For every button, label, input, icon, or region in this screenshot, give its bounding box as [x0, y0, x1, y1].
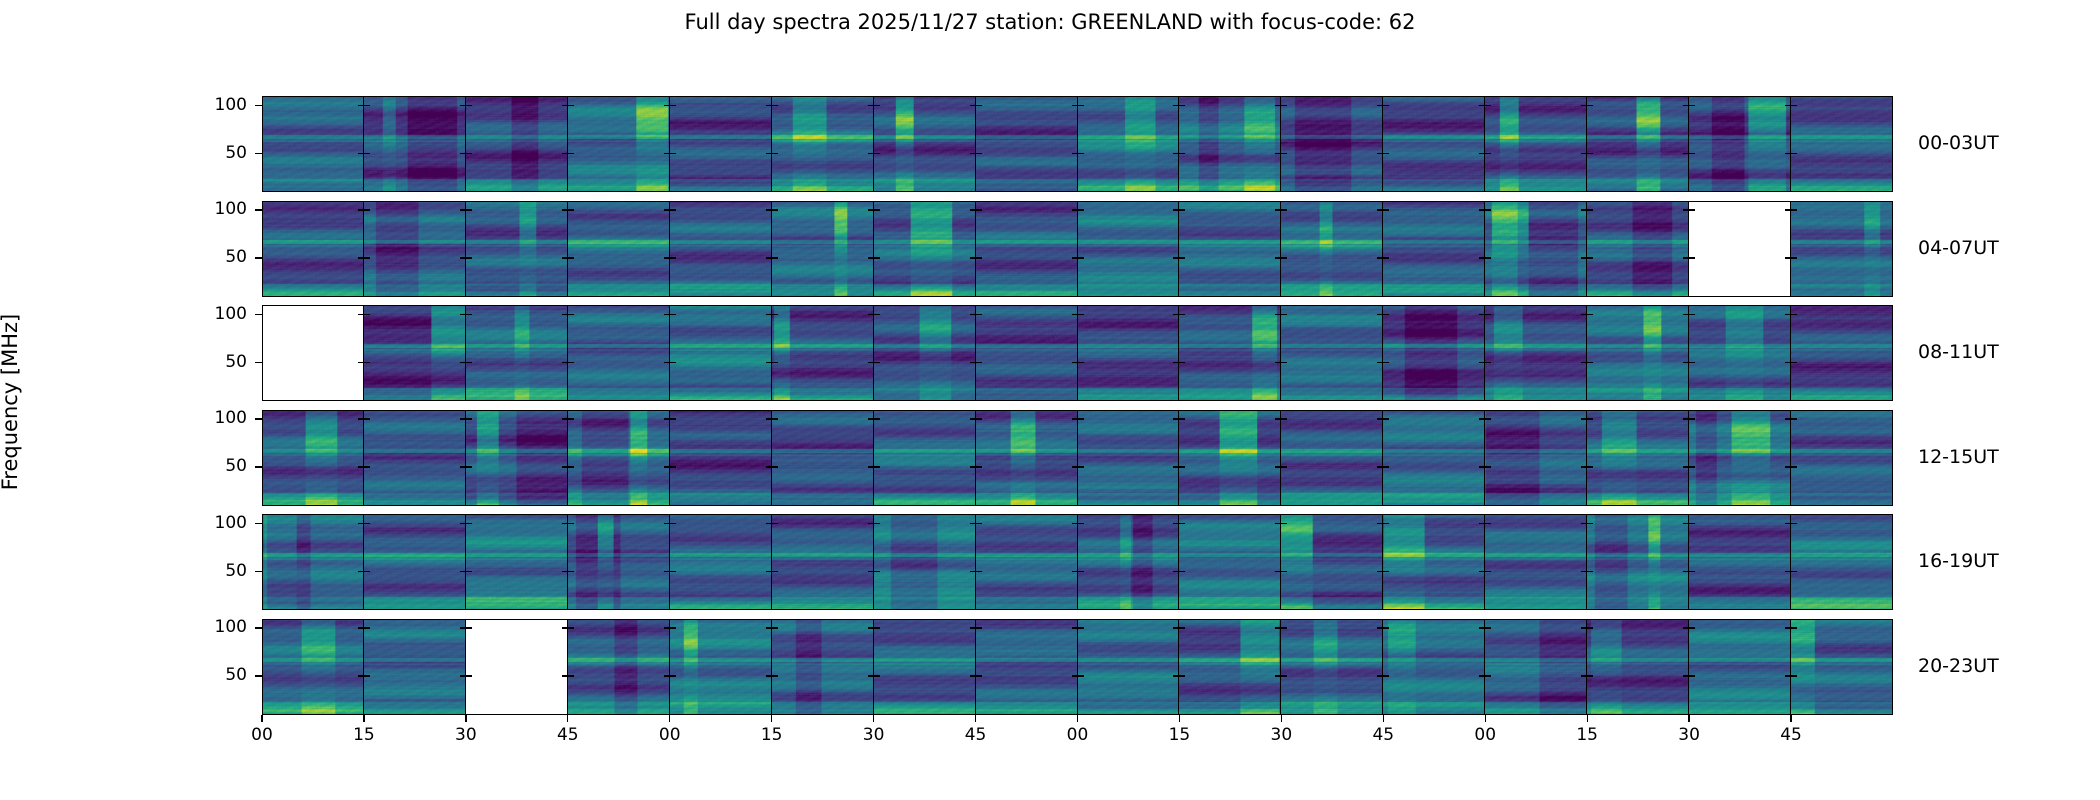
spectrogram-row-16-19ut — [262, 514, 1893, 610]
y-tick-mark-inner — [1383, 362, 1389, 363]
spectrogram-panel — [976, 201, 1078, 297]
spectrogram-panel — [1078, 619, 1180, 715]
y-tick-mark-inner — [1485, 675, 1491, 676]
spectrogram-panel — [568, 514, 670, 610]
y-tick-mark-inner — [670, 418, 676, 419]
spectrogram-panel — [262, 619, 364, 715]
spectrogram-panel — [1485, 305, 1587, 401]
spectrogram-panel — [1791, 305, 1893, 401]
row-label-20-23ut: 20-23UT — [1918, 655, 1999, 677]
y-tick-mark-inner — [1078, 105, 1084, 106]
y-tick-mark-inner — [568, 257, 574, 258]
y-tick-mark-inner — [1383, 314, 1389, 315]
y-tick-mark-inner — [1587, 257, 1593, 258]
x-tick-mark — [261, 715, 262, 722]
y-tick-mark-inner — [1383, 571, 1389, 572]
spectrogram-panel — [976, 305, 1078, 401]
y-tick-mark-inner — [466, 362, 472, 363]
spectrogram-panel — [772, 305, 874, 401]
spectrogram-panel — [1281, 201, 1383, 297]
x-tick-mark — [1790, 715, 1791, 722]
y-tick-label: 100 — [192, 199, 247, 219]
y-tick-mark-inner — [364, 153, 370, 154]
y-tick-mark-inner — [568, 627, 574, 628]
x-tick-label: 30 — [844, 725, 904, 745]
spectrogram-panel — [568, 96, 670, 192]
y-tick-mark-inner — [1485, 362, 1491, 363]
x-tick-mark — [873, 715, 874, 722]
y-tick-mark-inner — [1078, 466, 1084, 467]
y-tick-mark-inner — [772, 153, 778, 154]
spectrogram-panel — [874, 96, 976, 192]
y-tick-mark-inner — [1179, 209, 1185, 210]
y-tick-mark-inner — [1078, 257, 1084, 258]
y-tick-mark-inner — [976, 362, 982, 363]
row-label-04-07ut: 04-07UT — [1918, 237, 1999, 259]
y-tick-mark-inner — [976, 314, 982, 315]
y-tick-mark-inner — [568, 362, 574, 363]
page-title: Full day spectra 2025/11/27 station: GRE… — [0, 10, 2100, 34]
row-label-16-19ut: 16-19UT — [1918, 550, 1999, 572]
y-tick-mark-inner — [1485, 523, 1491, 524]
spectrogram-panel — [364, 201, 466, 297]
y-tick-mark-inner — [670, 362, 676, 363]
y-tick-mark — [255, 418, 262, 419]
spectrogram-panel — [1587, 96, 1689, 192]
y-tick-mark-inner — [1078, 362, 1084, 363]
spectrogram-panel — [1179, 96, 1281, 192]
x-tick-mark — [1485, 715, 1486, 722]
y-tick-mark-inner — [1179, 314, 1185, 315]
spectrogram-panel — [568, 619, 670, 715]
y-tick-mark-inner — [364, 257, 370, 258]
y-tick-mark-inner — [1179, 466, 1185, 467]
y-tick-mark — [255, 675, 262, 676]
y-tick-label: 50 — [192, 456, 247, 476]
y-tick-mark-inner — [976, 466, 982, 467]
spectrogram-panel — [1383, 201, 1485, 297]
x-tick-mark — [465, 715, 466, 722]
y-tick-mark-inner — [976, 418, 982, 419]
y-tick-mark-inner — [976, 571, 982, 572]
y-tick-mark-inner — [874, 362, 880, 363]
spectrogram-panel — [262, 514, 364, 610]
x-tick-label: 00 — [1048, 725, 1108, 745]
y-tick-mark-inner — [1485, 314, 1491, 315]
spectrogram-panel — [976, 619, 1078, 715]
spectrogram-panel — [1791, 619, 1893, 715]
spectrogram-panel — [772, 514, 874, 610]
y-tick-mark-inner — [364, 523, 370, 524]
y-tick-mark-inner — [1587, 153, 1593, 154]
spectrogram-panel — [1791, 514, 1893, 610]
y-tick-mark-inner — [670, 257, 676, 258]
y-tick-mark-inner — [1281, 257, 1287, 258]
spectrogram-panel — [568, 201, 670, 297]
spectrogram-panel — [1179, 201, 1281, 297]
y-tick-mark-inner — [874, 418, 880, 419]
row-label-08-11ut: 08-11UT — [1918, 341, 1999, 363]
y-tick-mark-inner — [874, 675, 880, 676]
y-tick-mark-inner — [1485, 105, 1491, 106]
y-tick-mark-inner — [670, 209, 676, 210]
x-tick-mark — [1077, 715, 1078, 722]
spectrogram-panel — [1179, 514, 1281, 610]
y-tick-mark-inner — [364, 314, 370, 315]
spectrogram-panel — [1485, 96, 1587, 192]
y-tick-mark-inner — [1791, 362, 1797, 363]
y-axis-label-text: Frequency [MHz] — [0, 242, 22, 562]
spectrogram-panel — [1078, 96, 1180, 192]
y-tick-mark-inner — [1485, 466, 1491, 467]
x-tick-mark — [1688, 715, 1689, 722]
spectrogram-panel — [874, 619, 976, 715]
spectrogram-row-00-03ut — [262, 96, 1893, 192]
y-tick-mark-inner — [466, 523, 472, 524]
y-tick-mark-inner — [1791, 153, 1797, 154]
y-tick-label: 50 — [192, 352, 247, 372]
y-tick-mark-inner — [1383, 627, 1389, 628]
spectrogram-panel — [1689, 619, 1791, 715]
x-tick-mark — [669, 715, 670, 722]
spectrogram-panel — [568, 410, 670, 506]
y-tick-mark-inner — [1689, 362, 1695, 363]
spectrogram-panel — [874, 514, 976, 610]
y-tick-mark-inner — [1485, 209, 1491, 210]
y-tick-mark-inner — [976, 257, 982, 258]
y-tick-mark-inner — [1281, 153, 1287, 154]
y-tick-mark-inner — [976, 105, 982, 106]
y-tick-mark-inner — [1383, 418, 1389, 419]
y-tick-label: 100 — [192, 617, 247, 637]
spectrogram-panel — [1383, 305, 1485, 401]
y-tick-mark-inner — [1078, 523, 1084, 524]
y-tick-mark-inner — [466, 257, 472, 258]
y-tick-mark-inner — [1791, 571, 1797, 572]
x-tick-mark — [1281, 715, 1282, 722]
spectrogram-panel — [1281, 305, 1383, 401]
y-tick-mark-inner — [772, 466, 778, 467]
spectrogram-panel — [670, 96, 772, 192]
y-tick-label: 50 — [192, 143, 247, 163]
spectrogram-panel — [670, 410, 772, 506]
spectrogram-panel — [364, 514, 466, 610]
spectrogram-panel — [1281, 96, 1383, 192]
spectrogram-panel — [1587, 619, 1689, 715]
y-tick-mark-inner — [1689, 105, 1695, 106]
x-tick-label: 45 — [538, 725, 598, 745]
spectrogram-panel — [364, 96, 466, 192]
y-tick-mark-inner — [466, 627, 472, 628]
y-tick-label: 100 — [192, 408, 247, 428]
y-tick-mark-inner — [1587, 571, 1593, 572]
y-tick-mark-inner — [1791, 209, 1797, 210]
y-tick-mark-inner — [1485, 627, 1491, 628]
y-tick-mark — [255, 257, 262, 258]
y-tick-mark-inner — [1179, 105, 1185, 106]
y-tick-mark — [255, 571, 262, 572]
spectrogram-panel — [1281, 410, 1383, 506]
x-tick-label: 00 — [640, 725, 700, 745]
y-tick-mark — [255, 362, 262, 363]
y-tick-mark-inner — [568, 523, 574, 524]
x-tick-label: 15 — [742, 725, 802, 745]
y-tick-mark-inner — [1383, 153, 1389, 154]
y-tick-mark — [255, 523, 262, 524]
y-tick-mark-inner — [1587, 466, 1593, 467]
spectrogram-row-12-15ut — [262, 410, 1893, 506]
spectrogram-panel — [874, 305, 976, 401]
y-tick-mark-inner — [1179, 418, 1185, 419]
y-tick-label: 50 — [192, 665, 247, 685]
y-tick-mark — [255, 627, 262, 628]
y-tick-mark-inner — [772, 627, 778, 628]
y-tick-mark-inner — [1485, 257, 1491, 258]
spectrogram-panel — [670, 201, 772, 297]
y-tick-mark-inner — [1689, 257, 1695, 258]
y-tick-mark-inner — [1179, 362, 1185, 363]
x-tick-label: 45 — [946, 725, 1006, 745]
spectrogram-panel-missing — [262, 305, 364, 401]
spectrogram-panel — [1078, 305, 1180, 401]
x-tick-label: 45 — [1761, 725, 1821, 745]
spectrogram-row-04-07ut — [262, 201, 1893, 297]
y-tick-label: 100 — [192, 304, 247, 324]
spectrogram-panel — [976, 96, 1078, 192]
y-tick-mark-inner — [1281, 105, 1287, 106]
spectrogram-panel — [1485, 619, 1587, 715]
row-label-12-15ut: 12-15UT — [1918, 446, 1999, 468]
spectrogram-panel — [670, 305, 772, 401]
y-tick-mark-inner — [364, 466, 370, 467]
x-tick-mark — [363, 715, 364, 722]
y-tick-mark-inner — [772, 418, 778, 419]
y-tick-mark-inner — [466, 466, 472, 467]
spectrogram-panel — [466, 410, 568, 506]
spectrogram-panel — [1689, 410, 1791, 506]
spectrogram-panel — [1485, 410, 1587, 506]
y-tick-mark-inner — [1689, 209, 1695, 210]
spectrogram-panel — [1179, 619, 1281, 715]
y-axis-label: Frequency [MHz] — [0, 0, 1, 1]
y-tick-mark-inner — [670, 153, 676, 154]
y-tick-mark-inner — [1791, 523, 1797, 524]
y-tick-label: 100 — [192, 513, 247, 533]
y-tick-mark-inner — [1078, 153, 1084, 154]
x-tick-mark — [1383, 715, 1384, 722]
y-tick-mark-inner — [364, 209, 370, 210]
y-tick-mark-inner — [466, 675, 472, 676]
spectrogram-panel — [1791, 201, 1893, 297]
spectrogram-panel — [1587, 514, 1689, 610]
y-tick-mark-inner — [772, 314, 778, 315]
spectrogram-panel — [262, 201, 364, 297]
y-tick-mark-inner — [364, 627, 370, 628]
x-tick-label: 30 — [1659, 725, 1719, 745]
y-tick-mark-inner — [1485, 418, 1491, 419]
y-tick-mark-inner — [976, 153, 982, 154]
y-tick-mark-inner — [1587, 314, 1593, 315]
spectrogram-panel — [1078, 201, 1180, 297]
spectrogram-panel — [772, 201, 874, 297]
spectrogram-panel — [1689, 514, 1791, 610]
y-tick-mark-inner — [1587, 105, 1593, 106]
y-tick-mark — [255, 105, 262, 106]
x-tick-label: 15 — [334, 725, 394, 745]
y-tick-mark — [255, 153, 262, 154]
y-tick-mark-inner — [466, 209, 472, 210]
y-tick-mark-inner — [670, 571, 676, 572]
y-tick-mark-inner — [1281, 675, 1287, 676]
y-tick-mark-inner — [1587, 523, 1593, 524]
spectrogram-panel — [262, 96, 364, 192]
x-tick-mark — [771, 715, 772, 722]
x-tick-mark — [975, 715, 976, 722]
y-tick-mark-inner — [466, 314, 472, 315]
y-tick-mark-inner — [670, 523, 676, 524]
y-tick-mark-inner — [1791, 257, 1797, 258]
y-tick-mark-inner — [772, 105, 778, 106]
y-tick-mark-inner — [1179, 571, 1185, 572]
y-tick-mark-inner — [670, 466, 676, 467]
y-tick-mark-inner — [1791, 105, 1797, 106]
y-tick-mark-inner — [1791, 314, 1797, 315]
y-tick-mark-inner — [1587, 362, 1593, 363]
y-tick-mark-inner — [1383, 466, 1389, 467]
y-tick-mark-inner — [1078, 675, 1084, 676]
y-tick-mark-inner — [874, 523, 880, 524]
spectrogram-panel — [1587, 201, 1689, 297]
spectrogram-panel-missing — [1689, 201, 1791, 297]
y-tick-mark-inner — [364, 418, 370, 419]
y-tick-mark-inner — [1281, 523, 1287, 524]
y-tick-mark-inner — [1281, 571, 1287, 572]
spectrogram-panel — [976, 410, 1078, 506]
spectrogram-panel — [1383, 514, 1485, 610]
y-tick-mark-inner — [670, 105, 676, 106]
spectrogram-panel — [1179, 410, 1281, 506]
y-tick-mark-inner — [1281, 466, 1287, 467]
y-tick-mark-inner — [1179, 257, 1185, 258]
y-tick-mark-inner — [1689, 153, 1695, 154]
y-tick-mark — [255, 466, 262, 467]
spectrogram-panel — [1078, 514, 1180, 610]
x-tick-label: 30 — [436, 725, 496, 745]
y-tick-mark-inner — [364, 362, 370, 363]
y-tick-mark-inner — [1791, 675, 1797, 676]
y-tick-mark-inner — [1587, 627, 1593, 628]
spectrogram-panel — [364, 410, 466, 506]
y-tick-mark-inner — [772, 675, 778, 676]
y-tick-mark-inner — [1587, 209, 1593, 210]
y-tick-mark-inner — [1179, 627, 1185, 628]
y-tick-mark-inner — [466, 418, 472, 419]
y-tick-mark-inner — [874, 571, 880, 572]
y-tick-mark-inner — [1078, 418, 1084, 419]
y-tick-mark-inner — [466, 153, 472, 154]
y-tick-mark-inner — [1689, 466, 1695, 467]
y-tick-mark-inner — [1383, 209, 1389, 210]
y-tick-mark-inner — [1791, 466, 1797, 467]
spectrogram-panel — [1689, 96, 1791, 192]
y-tick-mark-inner — [1078, 627, 1084, 628]
spectrogram-panel — [568, 305, 670, 401]
x-tick-label: 30 — [1251, 725, 1311, 745]
y-tick-mark — [255, 314, 262, 315]
y-tick-mark-inner — [364, 571, 370, 572]
y-tick-mark-inner — [1689, 571, 1695, 572]
y-tick-mark-inner — [568, 153, 574, 154]
spectrogram-figure: Full day spectra 2025/11/27 station: GRE… — [0, 0, 2100, 800]
y-tick-mark-inner — [1078, 314, 1084, 315]
y-tick-mark-inner — [1383, 523, 1389, 524]
y-tick-mark-inner — [874, 257, 880, 258]
y-tick-mark-inner — [568, 314, 574, 315]
spectrogram-panel — [874, 410, 976, 506]
y-tick-mark-inner — [466, 571, 472, 572]
y-tick-label: 50 — [192, 247, 247, 267]
spectrogram-row-20-23ut — [262, 619, 1893, 715]
y-tick-mark-inner — [1689, 675, 1695, 676]
y-tick-mark-inner — [976, 209, 982, 210]
spectrogram-panel — [670, 619, 772, 715]
y-tick-mark-inner — [1383, 675, 1389, 676]
spectrogram-panel — [772, 410, 874, 506]
y-tick-mark-inner — [874, 627, 880, 628]
spectrogram-panel — [466, 514, 568, 610]
y-tick-mark-inner — [874, 105, 880, 106]
y-tick-mark-inner — [874, 153, 880, 154]
y-tick-mark-inner — [772, 257, 778, 258]
y-tick-mark-inner — [1281, 314, 1287, 315]
y-tick-mark-inner — [976, 627, 982, 628]
y-tick-mark-inner — [1281, 362, 1287, 363]
y-tick-mark-inner — [772, 523, 778, 524]
spectrogram-panel — [1281, 619, 1383, 715]
y-tick-mark-inner — [772, 571, 778, 572]
y-tick-mark-inner — [670, 627, 676, 628]
y-tick-mark-inner — [976, 523, 982, 524]
spectrogram-panel — [1078, 410, 1180, 506]
spectrogram-panel — [670, 514, 772, 610]
spectrogram-panel — [364, 619, 466, 715]
spectrogram-panel — [1689, 305, 1791, 401]
row-label-00-03ut: 00-03UT — [1918, 132, 1999, 154]
spectrogram-panel — [1383, 410, 1485, 506]
spectrogram-panel — [772, 619, 874, 715]
y-tick-mark-inner — [1281, 418, 1287, 419]
spectrogram-panel — [1791, 410, 1893, 506]
spectrogram-panel-missing — [466, 619, 568, 715]
y-tick-mark-inner — [874, 466, 880, 467]
y-tick-mark-inner — [1179, 523, 1185, 524]
x-tick-mark — [567, 715, 568, 722]
y-tick-mark-inner — [1689, 418, 1695, 419]
y-tick-mark-inner — [1383, 257, 1389, 258]
y-tick-mark-inner — [1383, 105, 1389, 106]
y-tick-mark-inner — [772, 209, 778, 210]
y-tick-mark-inner — [1689, 314, 1695, 315]
x-tick-label: 15 — [1149, 725, 1209, 745]
spectrogram-panel — [1791, 96, 1893, 192]
x-tick-mark — [1179, 715, 1180, 722]
spectrogram-panel — [772, 96, 874, 192]
y-tick-mark-inner — [874, 314, 880, 315]
y-tick-mark-inner — [1078, 571, 1084, 572]
y-tick-mark-inner — [568, 466, 574, 467]
spectrogram-panel — [1587, 305, 1689, 401]
y-tick-mark-inner — [670, 675, 676, 676]
